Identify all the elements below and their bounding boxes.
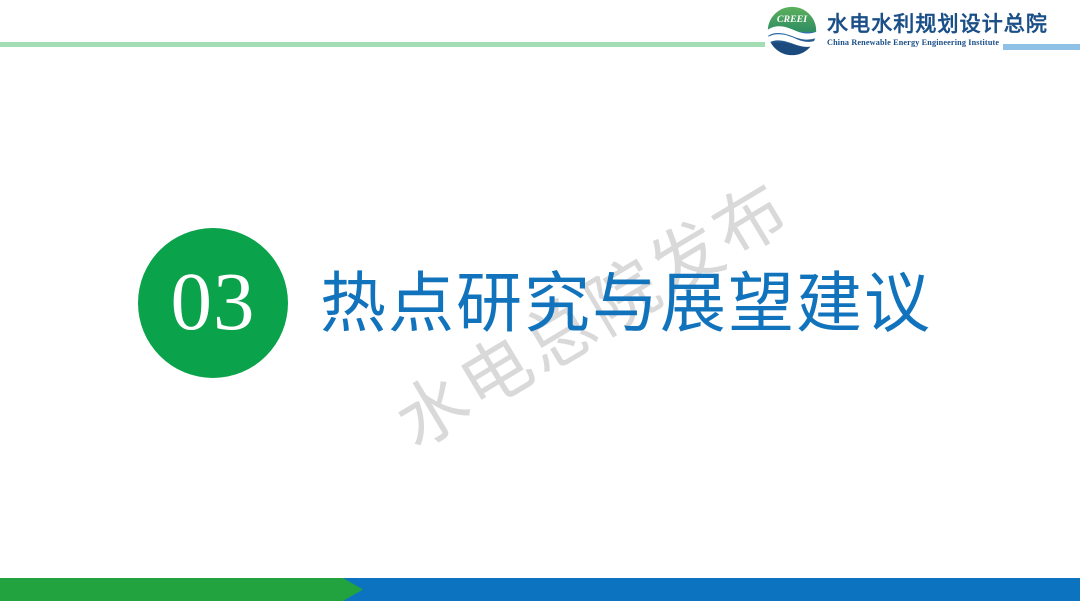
creei-logo-icon: CREEI <box>766 5 818 57</box>
creei-wordmark: CREEI <box>777 14 808 25</box>
institute-logo: CREEI 水电水利规划设计总院 China Renewable Energy … <box>766 5 1048 57</box>
footer-bar <box>0 578 1080 601</box>
logo-title-en: China Renewable Energy Engineering Insti… <box>827 39 1048 47</box>
logo-title-cn: 水电水利规划设计总院 <box>827 14 1048 35</box>
footer-bar-green-chevron <box>0 578 363 601</box>
section-number: 03 <box>171 260 256 343</box>
logo-text-block: 水电水利规划设计总院 China Renewable Energy Engine… <box>827 14 1048 47</box>
footer-chevron-graphic <box>0 578 1080 601</box>
section-number-badge: 03 <box>138 228 288 378</box>
header-rule-green <box>0 42 765 47</box>
slide-canvas: CREEI 水电水利规划设计总院 China Renewable Energy … <box>0 0 1080 608</box>
section-title: 热点研究与展望建议 <box>320 268 932 339</box>
